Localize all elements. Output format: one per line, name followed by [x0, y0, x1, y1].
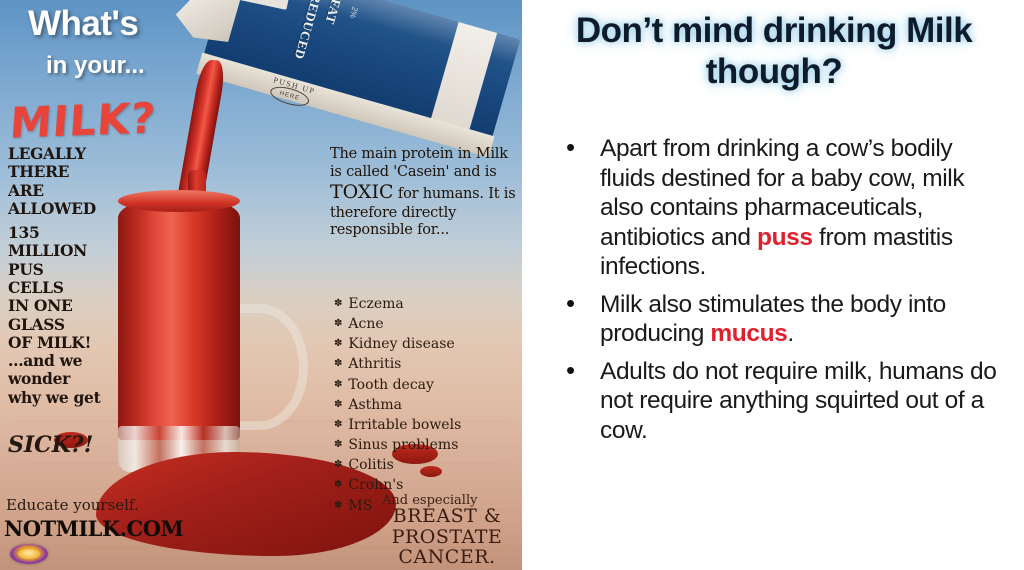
poster-website-notmilk: NOTMILK.COM	[4, 516, 183, 541]
glass-rim	[118, 190, 240, 212]
notmilk-poster-image: REDUCED FAT 2% K PUSH UP HERE What's in …	[0, 0, 522, 570]
left-line: THERE	[8, 163, 128, 181]
notmilk-logo-icon	[10, 544, 48, 564]
casein-toxic-word: TOXIC	[330, 181, 394, 203]
poster-headline-whats: What's	[28, 4, 138, 44]
left-line: ALLOWED	[8, 200, 128, 218]
slide-bullet-list: Apart from drinking a cow’s bodily fluid…	[558, 134, 1010, 453]
list-item: Asthma	[334, 395, 522, 415]
left-line: ARE	[8, 182, 128, 200]
slide-canvas: REDUCED FAT 2% K PUSH UP HERE What's in …	[0, 0, 1024, 570]
bullet-highlight-mucus: mucus	[710, 320, 787, 347]
bullet-text-pre: Adults do not require milk, humans do no…	[600, 358, 996, 444]
slide-text-panel: Don’t mind drinking Milk though? Apart f…	[524, 0, 1024, 570]
poster-sick-text: SICK?!	[8, 432, 93, 458]
left-line: OF MILK!	[8, 334, 128, 352]
left-line: 135	[8, 224, 128, 242]
left-line: wonder	[8, 370, 128, 388]
poster-headline-milk: MILK?	[8, 93, 157, 147]
left-line: MILLION	[8, 242, 128, 260]
left-line: IN ONE	[8, 297, 128, 315]
list-item: Colitis	[334, 455, 522, 475]
bullet-text-post: .	[787, 320, 793, 347]
list-item: Kidney disease	[334, 334, 522, 354]
poster-educate-yourself: Educate yourself.	[6, 496, 139, 514]
page-title: Don’t mind drinking Milk though?	[524, 10, 1024, 93]
list-item: Acne	[334, 314, 522, 334]
bullet-highlight-puss: puss	[757, 224, 813, 251]
left-line: GLASS	[8, 316, 128, 334]
left-line: PUS	[8, 261, 128, 279]
list-item: Apart from drinking a cow’s bodily fluid…	[558, 134, 1010, 282]
poster-casein-paragraph: The main protein in Milk is called 'Case…	[330, 146, 520, 240]
casein-text-part1: The main protein in Milk is called 'Case…	[330, 146, 508, 180]
glass-handle	[228, 304, 308, 430]
left-line: why we get	[8, 389, 128, 407]
list-item: Adults do not require milk, humans do no…	[558, 357, 1010, 446]
list-item: Irritable bowels	[334, 415, 522, 435]
glass-liquid	[118, 196, 240, 440]
left-line: ...and we	[8, 352, 128, 370]
list-item: Milk also stimulates the body into produ…	[558, 290, 1010, 349]
poster-cancer-text: BREAST & PROSTATE CANCER.	[372, 506, 522, 568]
poster-headline-in-your: in your...	[46, 52, 145, 80]
glass-of-red-liquid	[118, 196, 240, 468]
list-item: Athritis	[334, 354, 522, 374]
poster-disease-list: Eczema Acne Kidney disease Athritis Toot…	[334, 294, 522, 516]
left-line: CELLS	[8, 279, 128, 297]
list-item: Tooth decay	[334, 375, 522, 395]
list-item: Eczema	[334, 294, 522, 314]
poster-left-text-column: LEGALLY THERE ARE ALLOWED 135 MILLION PU…	[8, 145, 128, 407]
list-item: Sinus problems	[334, 435, 522, 455]
left-line: LEGALLY	[8, 145, 128, 163]
